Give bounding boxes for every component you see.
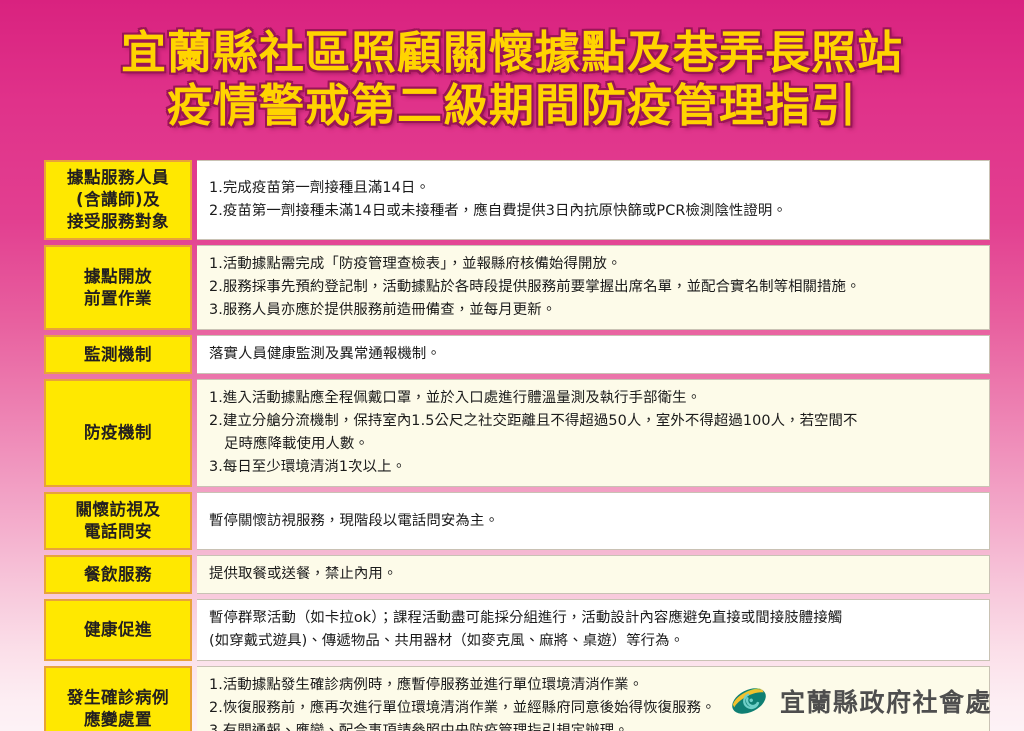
yilan-county-government-logo-icon <box>729 685 769 717</box>
content-line: 3.服務人員亦應於提供服務前造冊備查，並每月更新。 <box>209 299 979 322</box>
table-row: 據點服務人員 (含講師)及 接受服務對象 1.完成疫苗第一劑接種且滿14日。 2… <box>44 160 990 240</box>
content-line: 暫停群聚活動（如卡拉ok）；課程活動盡可能採分組進行，活動設計內容應避免直接或間… <box>209 607 979 630</box>
content-line: 落實人員健康監測及異常通報機制。 <box>209 343 979 366</box>
content-line: 2.服務採事先預約登記制，活動據點於各時段提供服務前要掌握出席名單，並配合實名制… <box>209 276 979 299</box>
label-line: (含講師)及 <box>67 189 169 211</box>
row-label-confirmed-case-response: 發生確診病例 應變處置 <box>44 666 192 731</box>
row-content-service-personnel: 1.完成疫苗第一劑接種且滿14日。 2.疫苗第一劑接種未滿14日或未接種者，應自… <box>197 160 990 240</box>
content-line: (如穿戴式遊具)、傳遞物品、共用器材（如麥克風、麻將、桌遊）等行為。 <box>209 630 979 653</box>
content-line: 3.每日至少環境清消1次以上。 <box>209 456 979 479</box>
label-line: 監測機制 <box>84 344 152 366</box>
content-line: 3.有關通報、應變、配合事項請參照中央防疫管理指引規定辦理。 <box>209 720 979 731</box>
row-content-care-visits: 暫停關懷訪視服務，現階段以電話問安為主。 <box>197 492 990 550</box>
row-label-service-personnel: 據點服務人員 (含講師)及 接受服務對象 <box>44 160 192 240</box>
content-line: 暫停關懷訪視服務，現階段以電話問安為主。 <box>209 510 979 533</box>
row-content-monitoring: 落實人員健康監測及異常通報機制。 <box>197 335 990 374</box>
label-line: 健康促進 <box>84 619 152 641</box>
row-label-monitoring: 監測機制 <box>44 335 192 374</box>
content-line: 提供取餐或送餐，禁止內用。 <box>209 563 979 586</box>
table-row: 防疫機制 1.進入活動據點應全程佩戴口罩，並於入口處進行體溫量測及執行手部衛生。… <box>44 379 990 487</box>
guideline-table: 據點服務人員 (含講師)及 接受服務對象 1.完成疫苗第一劑接種且滿14日。 2… <box>44 160 990 731</box>
label-line: 據點開放 <box>84 266 152 288</box>
label-line: 餐飲服務 <box>84 564 152 586</box>
row-content-epidemic-prevention: 1.進入活動據點應全程佩戴口罩，並於入口處進行體溫量測及執行手部衛生。 2.建立… <box>197 379 990 487</box>
label-line: 發生確診病例 <box>67 687 169 709</box>
title-line-2: 疫情警戒第二級期間防疫管理指引 <box>0 79 1024 132</box>
table-row: 餐飲服務 提供取餐或送餐，禁止內用。 <box>44 555 990 594</box>
row-content-meal-service: 提供取餐或送餐，禁止內用。 <box>197 555 990 594</box>
label-line: 接受服務對象 <box>67 211 169 233</box>
row-label-care-visits: 關懷訪視及 電話問安 <box>44 492 192 550</box>
label-line: 電話問安 <box>76 521 161 543</box>
content-line: 1.完成疫苗第一劑接種且滿14日。 <box>209 177 979 200</box>
table-row: 關懷訪視及 電話問安 暫停關懷訪視服務，現階段以電話問安為主。 <box>44 492 990 550</box>
row-label-meal-service: 餐飲服務 <box>44 555 192 594</box>
label-line: 防疫機制 <box>84 422 152 444</box>
title-line-1: 宜蘭縣社區照顧關懷據點及巷弄長照站 <box>0 26 1024 79</box>
row-label-health-promotion: 健康促進 <box>44 599 192 661</box>
row-label-preopening-tasks: 據點開放 前置作業 <box>44 245 192 330</box>
page-title: 宜蘭縣社區照顧關懷據點及巷弄長照站 疫情警戒第二級期間防疫管理指引 <box>0 0 1024 132</box>
row-label-epidemic-prevention: 防疫機制 <box>44 379 192 487</box>
content-line: 2.建立分艙分流機制，保持室內1.5公尺之社交距離且不得超過50人，室外不得超過… <box>209 410 979 433</box>
label-line: 應變處置 <box>67 709 169 731</box>
label-line: 據點服務人員 <box>67 167 169 189</box>
label-line: 前置作業 <box>84 288 152 310</box>
table-row: 據點開放 前置作業 1.活動據點需完成「防疫管理查檢表」，並報縣府核備始得開放。… <box>44 245 990 330</box>
row-content-preopening-tasks: 1.活動據點需完成「防疫管理查檢表」，並報縣府核備始得開放。 2.服務採事先預約… <box>197 245 990 330</box>
footer: 宜蘭縣政府社會處 <box>729 683 992 719</box>
footer-agency-name: 宜蘭縣政府社會處 <box>780 683 992 719</box>
label-line: 關懷訪視及 <box>76 499 161 521</box>
content-line: 1.進入活動據點應全程佩戴口罩，並於入口處進行體溫量測及執行手部衛生。 <box>209 387 979 410</box>
row-content-health-promotion: 暫停群聚活動（如卡拉ok）；課程活動盡可能採分組進行，活動設計內容應避免直接或間… <box>197 599 990 661</box>
content-line: 2.疫苗第一劑接種未滿14日或未接種者，應自費提供3日內抗原快篩或PCR檢測陰性… <box>209 200 979 223</box>
content-line: 1.活動據點需完成「防疫管理查檢表」，並報縣府核備始得開放。 <box>209 253 979 276</box>
poster-root: 宜蘭縣社區照顧關懷據點及巷弄長照站 疫情警戒第二級期間防疫管理指引 據點服務人員… <box>0 0 1024 731</box>
table-row: 監測機制 落實人員健康監測及異常通報機制。 <box>44 335 990 374</box>
content-line: 足時應降載使用人數。 <box>209 433 979 456</box>
table-row: 健康促進 暫停群聚活動（如卡拉ok）；課程活動盡可能採分組進行，活動設計內容應避… <box>44 599 990 661</box>
